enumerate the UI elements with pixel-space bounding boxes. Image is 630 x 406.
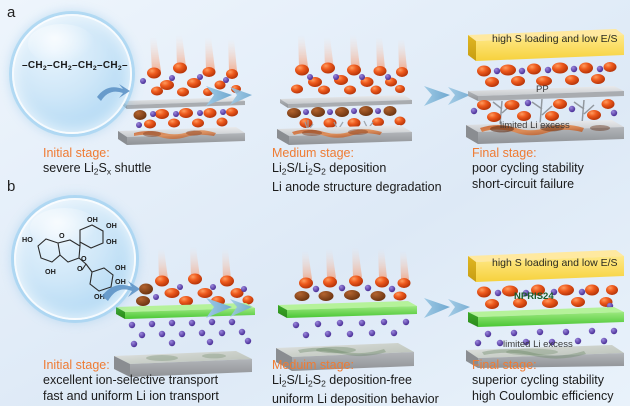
stage-label: Medium stage: bbox=[272, 146, 442, 161]
lithium-anode-slab bbox=[118, 127, 245, 145]
svg-text:OH: OH bbox=[106, 237, 117, 246]
caption-line: uniform Li deposition behavior bbox=[272, 392, 439, 406]
panel-b-inset-pointer-icon bbox=[100, 272, 142, 304]
caption-line: fast and uniform Li ion transport bbox=[43, 389, 219, 405]
svg-text:O: O bbox=[59, 231, 65, 240]
stage-label: Initial stage: bbox=[43, 358, 219, 373]
caption-a-final: Final stage: poor cycling stability shor… bbox=[472, 146, 584, 192]
caption-line: severe Li2Sx shuttle bbox=[43, 161, 151, 180]
svg-text:OH: OH bbox=[87, 215, 98, 224]
lithium-anode-slab bbox=[277, 125, 412, 145]
caption-line: short-circuit failure bbox=[472, 177, 584, 193]
svg-text:O: O bbox=[81, 254, 87, 263]
stage-label: Initial stage: bbox=[43, 146, 151, 161]
caption-line: superior cycling stability bbox=[472, 373, 614, 389]
caption-line: Li2S/Li2S2 deposition-free bbox=[272, 373, 439, 392]
caption-line: high Coulombic efficiency bbox=[472, 389, 614, 405]
schematic-figure: a b bbox=[0, 0, 630, 406]
panel-a-separator-label: PP bbox=[536, 84, 549, 95]
panel-b-medium-cell-graphic bbox=[272, 245, 417, 355]
caption-b-final: Final stage: superior cycling stability … bbox=[472, 358, 614, 404]
svg-text:OH: OH bbox=[115, 263, 126, 272]
svg-text:HO: HO bbox=[22, 235, 33, 244]
separator-slab bbox=[280, 95, 412, 108]
panel-a-medium-cell-graphic bbox=[272, 35, 412, 145]
svg-text:OH: OH bbox=[45, 267, 56, 276]
panel-a-anode-label: limited Li excess bbox=[500, 120, 570, 131]
stage-label: Meduim stage: bbox=[272, 358, 439, 373]
caption-line: poor cycling stability bbox=[472, 161, 584, 177]
caption-a-initial: Initial stage: severe Li2Sx shuttle bbox=[43, 146, 151, 180]
caption-a-medium: Medium stage: Li2S/Li2S2 deposition Li a… bbox=[272, 146, 442, 195]
caption-line: Li anode structure degradation bbox=[272, 180, 442, 196]
caption-line: Li2S/Li2S2 deposition bbox=[272, 161, 442, 180]
panel-a-inset-pointer-icon bbox=[95, 75, 135, 105]
svg-text:OH: OH bbox=[106, 221, 117, 230]
panel-b-anode-label: limited Li excess bbox=[503, 339, 573, 350]
stage-label: Final stage: bbox=[472, 358, 614, 373]
panel-a-inset-bubble bbox=[12, 14, 132, 134]
arrow-b-1-icon bbox=[206, 292, 258, 324]
arrow-a-1-icon bbox=[206, 80, 258, 112]
caption-b-medium: Meduim stage: Li2S/Li2S2 deposition-free… bbox=[272, 358, 439, 406]
svg-text:O: O bbox=[77, 264, 83, 273]
polypropylene-chain-label: –CH2–CH2–CH2–CH2– bbox=[22, 60, 128, 72]
functional-membrane-slab bbox=[468, 307, 624, 327]
panel-b-separator-label: NPRIS24 bbox=[514, 291, 554, 302]
panel-letter-b: b bbox=[7, 178, 15, 195]
caption-b-initial: Initial stage: excellent ion-selective t… bbox=[43, 358, 219, 404]
caption-line: excellent ion-selective transport bbox=[43, 373, 219, 389]
panel-letter-a: a bbox=[7, 4, 15, 21]
panel-a-banner-label: high S loading and low E/S bbox=[492, 33, 618, 45]
functional-membrane-slab bbox=[278, 301, 417, 318]
stage-label: Final stage: bbox=[472, 146, 584, 161]
panel-b-banner-label: high S loading and low E/S bbox=[492, 257, 618, 269]
